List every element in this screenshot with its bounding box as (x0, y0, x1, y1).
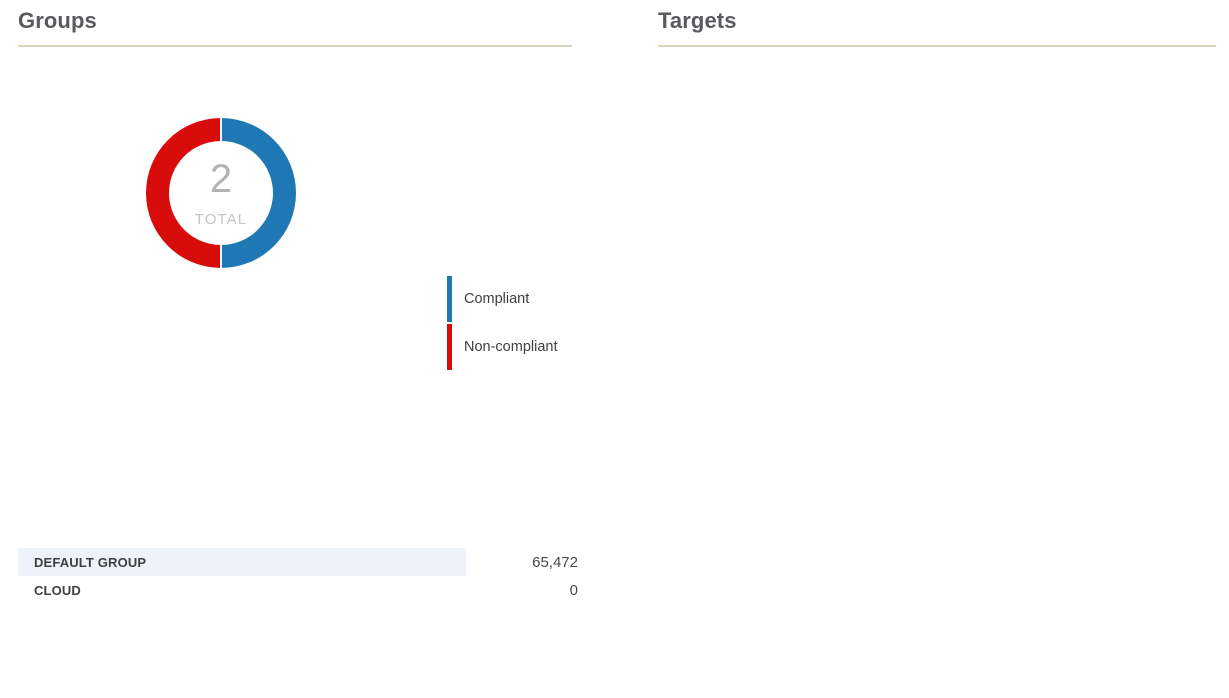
targets-title: Targets (658, 6, 1229, 36)
groups-legend-item-non-compliant[interactable]: Non-compliant (447, 323, 558, 371)
legend-swatch-icon (447, 276, 452, 322)
groups-header: Groups (0, 0, 614, 47)
groups-legend-item-compliant[interactable]: Compliant (447, 275, 558, 323)
groups-slice-divider-bottom (220, 245, 222, 268)
groups-chart-area: 2 TOTAL Compliant Non-compliant (0, 47, 614, 447)
groups-panel: Groups 2 TOTAL (0, 0, 614, 698)
groups-row-label: CLOUD (18, 583, 570, 598)
legend-swatch-icon (447, 324, 452, 370)
table-row[interactable]: CLOUD 0 (18, 576, 578, 604)
targets-panel: Targets (614, 0, 1229, 698)
table-row[interactable]: DEFAULT GROUP 65,472 (18, 548, 578, 576)
groups-row-value: 0 (570, 582, 578, 599)
groups-slice-compliant[interactable] (221, 118, 296, 268)
groups-donut: 2 TOTAL (145, 117, 297, 269)
targets-chart-area: 5 TOTAL Compliant Not Scanned Non-compli… (614, 47, 1229, 447)
dashboard-panels: Groups 2 TOTAL (0, 0, 1229, 698)
groups-list: DEFAULT GROUP 65,472 CLOUD 0 (18, 548, 578, 604)
groups-legend-label: Non-compliant (464, 339, 558, 355)
groups-slice-divider-top (220, 118, 222, 141)
groups-title: Groups (18, 6, 614, 36)
groups-slice-non-compliant[interactable] (146, 118, 221, 268)
groups-row-value: 65,472 (532, 554, 578, 571)
groups-donut-svg (145, 117, 297, 269)
groups-legend-label: Compliant (464, 291, 529, 307)
groups-legend: Compliant Non-compliant (447, 275, 558, 371)
targets-header: Targets (614, 0, 1229, 47)
groups-donut-chart: 2 TOTAL (145, 117, 297, 269)
groups-row-label: DEFAULT GROUP (18, 555, 532, 570)
